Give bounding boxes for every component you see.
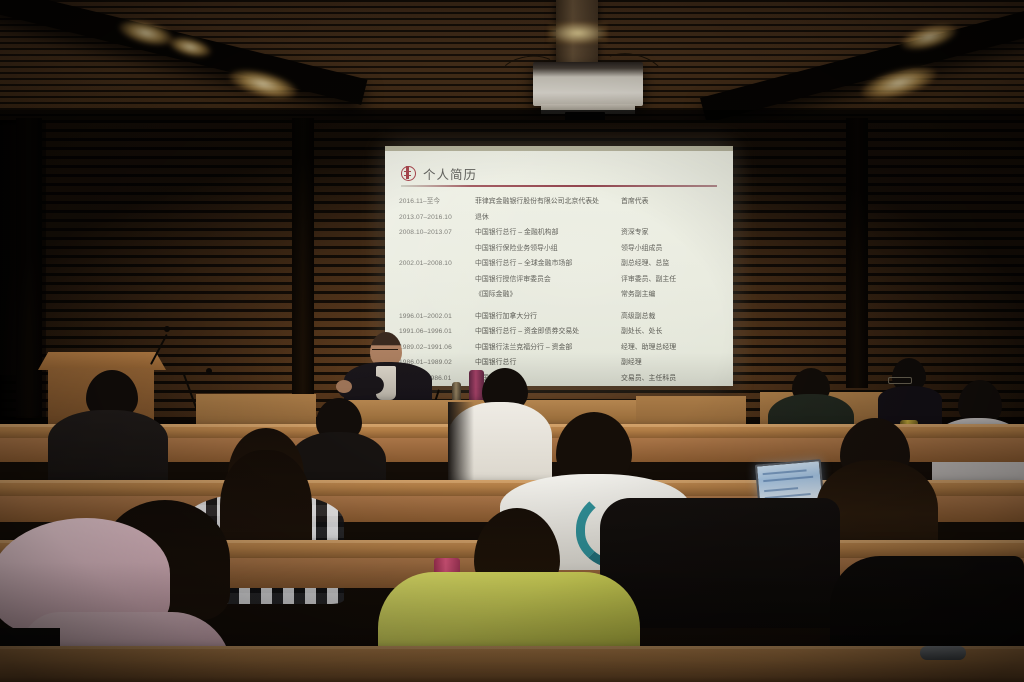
speaker-hand [336, 380, 352, 393]
slide-header: 个人简历 [401, 164, 477, 183]
row-date: 2016.11–至今 [399, 195, 475, 205]
row-organization: 退休 [475, 211, 621, 221]
wall-column-left [16, 118, 42, 418]
laptop-screen-line [763, 476, 813, 482]
row-role: 评审委员、副主任 [621, 273, 721, 283]
row-date: 2013.07–2016.10 [399, 214, 475, 221]
table-row: 2002.01–2008.10 中国银行总行 – 全球金融市场部 副总经理、总监 [399, 257, 721, 270]
row-organization: 中国银行总行 – 金融机构部 [475, 226, 621, 236]
table-row: 《国际金融》 常务副主编 [399, 288, 721, 301]
row-role: 副经理 [621, 356, 721, 366]
projector-backlight-glow [548, 22, 608, 44]
table-row: 2008.10–2013.07 中国银行总行 – 金融机构部 资深专家 [399, 226, 721, 239]
row-organization: 中国银行法兰克福分行 – 资金部 [475, 341, 621, 351]
row-role: 领导小组成员 [621, 242, 721, 252]
row-organization: 菲律宾金融银行股份有限公司北京代表处 [475, 195, 621, 205]
speaker-glasses-icon [372, 349, 398, 354]
lecture-hall-photo: 个人简历 2016.11–至今 菲律宾金融银行股份有限公司北京代表处 首席代表 … [0, 0, 1024, 682]
slide-title-underline [401, 185, 717, 187]
table-row: 2016.11–至今 菲律宾金融银行股份有限公司北京代表处 首席代表 [399, 195, 721, 208]
row-role: 常务副主编 [621, 288, 721, 298]
row-role: 副总经理、总监 [621, 257, 721, 267]
table-row: 2013.07–2016.10 退休 [399, 211, 721, 224]
bank-of-china-logo-icon [401, 166, 416, 181]
attendee-dark-jacket-left [48, 370, 168, 490]
podium-mic-right-head [206, 368, 212, 374]
row-date: 2008.10–2013.07 [399, 229, 475, 236]
bench-edge-highlight [0, 646, 1024, 649]
row-role: 首席代表 [621, 195, 721, 205]
row-organization: 中国银行总行 [475, 356, 621, 366]
laptop-screen-line [764, 487, 798, 492]
table-row: 中国银行授信评审委员会 评审委员、副主任 [399, 273, 721, 286]
slide-title: 个人简历 [423, 164, 477, 183]
row-organization: 《国际金融》 [475, 288, 621, 298]
row-role: 副处长、处长 [621, 325, 721, 335]
row-role: 交易员、主任科员 [621, 372, 721, 382]
row-role: 高级副总裁 [621, 310, 721, 320]
wall-column-right [846, 118, 868, 388]
wall-column-center-left [292, 118, 314, 408]
row-organization: 中国银行总行 – 资金即债券交易处 [475, 325, 621, 335]
phone-on-bench[interactable] [920, 646, 966, 660]
row-role: 资深专家 [621, 226, 721, 236]
row-organization: 中国银行保险业务领导小组 [475, 242, 621, 252]
row-organization: 中国银行授信评审委员会 [475, 273, 621, 283]
row-organization: 中国银行总行 – 全球金融市场部 [475, 257, 621, 267]
ceiling-projector [533, 62, 643, 106]
attendee-glasses-icon [888, 377, 912, 384]
laptop-screen-line [763, 469, 807, 475]
row-role: 经理、助理总经理 [621, 341, 721, 351]
row-date: 2002.01–2008.10 [399, 260, 475, 267]
table-row: 中国银行保险业务领导小组 领导小组成员 [399, 242, 721, 255]
table-row: 1996.01–2002.01 中国银行加拿大分行 高级副总裁 [399, 310, 721, 323]
row-organization: 中国银行加拿大分行 [475, 310, 621, 320]
podium-mic-left-head [164, 326, 170, 332]
row-date: 1996.01–2002.01 [399, 313, 475, 320]
bench-row-foreground [0, 646, 1024, 682]
